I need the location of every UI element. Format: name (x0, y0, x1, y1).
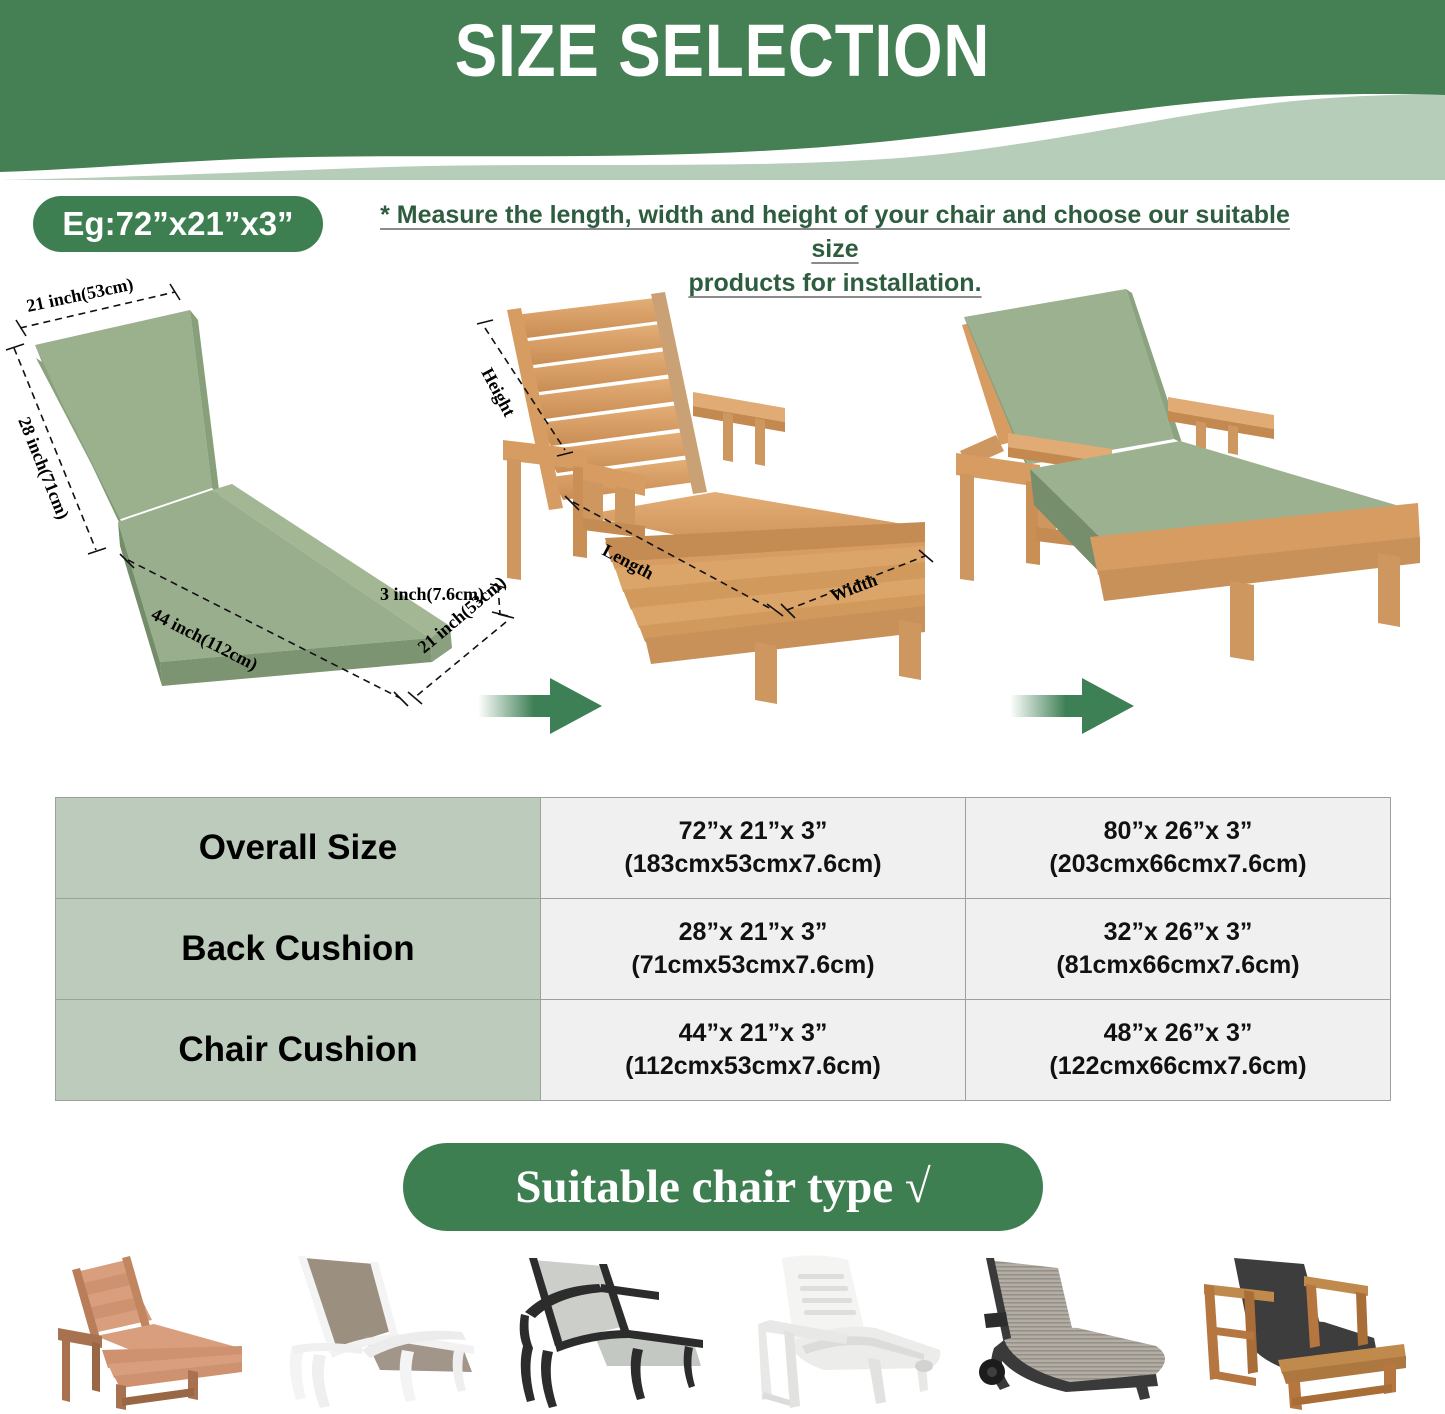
value-cm: (203cmx66cmx7.6cm) (967, 848, 1389, 881)
example-size-badge: Eg:72”x21”x3” (33, 196, 323, 252)
value-inches: 28”x 21”x 3” (542, 916, 964, 949)
svg-text:21 inch(53cm): 21 inch(53cm) (25, 274, 135, 317)
suitable-chair-type-banner: Suitable chair type √ (403, 1143, 1043, 1231)
thumb-white-plastic-chaise (728, 1250, 958, 1414)
suitable-chair-thumbnails (0, 1250, 1445, 1414)
cell-back-cushion-b: 32”x 26”x 3” (81cmx66cmx7.6cm) (966, 899, 1391, 1000)
value-inches: 44”x 21”x 3” (542, 1017, 964, 1050)
value-inches: 32”x 26”x 3” (967, 916, 1389, 949)
row-label-overall-size: Overall Size (56, 798, 541, 899)
value-inches: 72”x 21”x 3” (542, 815, 964, 848)
svg-text:Height: Height (477, 364, 519, 419)
value-cm: (112cmx53cmx7.6cm) (542, 1050, 964, 1083)
row-label-back-cushion: Back Cushion (56, 899, 541, 1000)
cell-chair-cushion-a: 44”x 21”x 3” (112cmx53cmx7.6cm) (541, 1000, 966, 1101)
cell-chair-cushion-b: 48”x 26”x 3” (122cmx66cmx7.6cm) (966, 1000, 1391, 1101)
chair2-frame (956, 289, 1420, 661)
thumb-wooden-slat-chaise (30, 1250, 260, 1414)
row-label-chair-cushion: Chair Cushion (56, 1000, 541, 1101)
value-cm: (71cmx53cmx7.6cm) (542, 949, 964, 982)
flow-arrow-2 (1010, 675, 1135, 737)
value-cm: (81cmx66cmx7.6cm) (967, 949, 1389, 982)
chair-with-cushion-diagram (930, 275, 1445, 705)
diagram-row: 21 inch(53cm) 28 inch(71cm) 44 inch(112c… (0, 270, 1445, 780)
value-cm: (183cmx53cmx7.6cm) (542, 848, 964, 881)
cushion-shape (35, 310, 452, 686)
thumb-rattan-wicker-chaise (960, 1250, 1190, 1414)
table-row: Chair Cushion 44”x 21”x 3” (112cmx53cmx7… (56, 1000, 1391, 1101)
table-row: Overall Size 72”x 21”x 3” (183cmx53cmx7.… (56, 798, 1391, 899)
cell-back-cushion-a: 28”x 21”x 3” (71cmx53cmx7.6cm) (541, 899, 966, 1000)
svg-text:28 inch(71cm): 28 inch(71cm) (13, 414, 73, 522)
thumb-white-frame-sling-chaise (262, 1250, 492, 1414)
table-row: Back Cushion 28”x 21”x 3” (71cmx53cmx7.6… (56, 899, 1391, 1000)
thumb-black-frame-sling-chaise (495, 1250, 725, 1414)
flow-arrow-1 (478, 675, 603, 737)
measurement-note-line1: * Measure the length, width and height o… (380, 201, 1290, 263)
value-inches: 48”x 26”x 3” (967, 1017, 1389, 1050)
value-cm: (122cmx66cmx7.6cm) (967, 1050, 1389, 1083)
size-table: Overall Size 72”x 21”x 3” (183cmx53cmx7.… (55, 797, 1391, 1101)
chair-diagram: Height Length Width (455, 280, 955, 700)
page-header: SIZE SELECTION (0, 0, 1445, 180)
thumb-wood-frame-black-chaise (1192, 1250, 1422, 1414)
cell-overall-size-a: 72”x 21”x 3” (183cmx53cmx7.6cm) (541, 798, 966, 899)
value-inches: 80”x 26”x 3” (967, 815, 1389, 848)
cell-overall-size-b: 80”x 26”x 3” (203cmx66cmx7.6cm) (966, 798, 1391, 899)
page-title: SIZE SELECTION (101, 8, 1344, 93)
